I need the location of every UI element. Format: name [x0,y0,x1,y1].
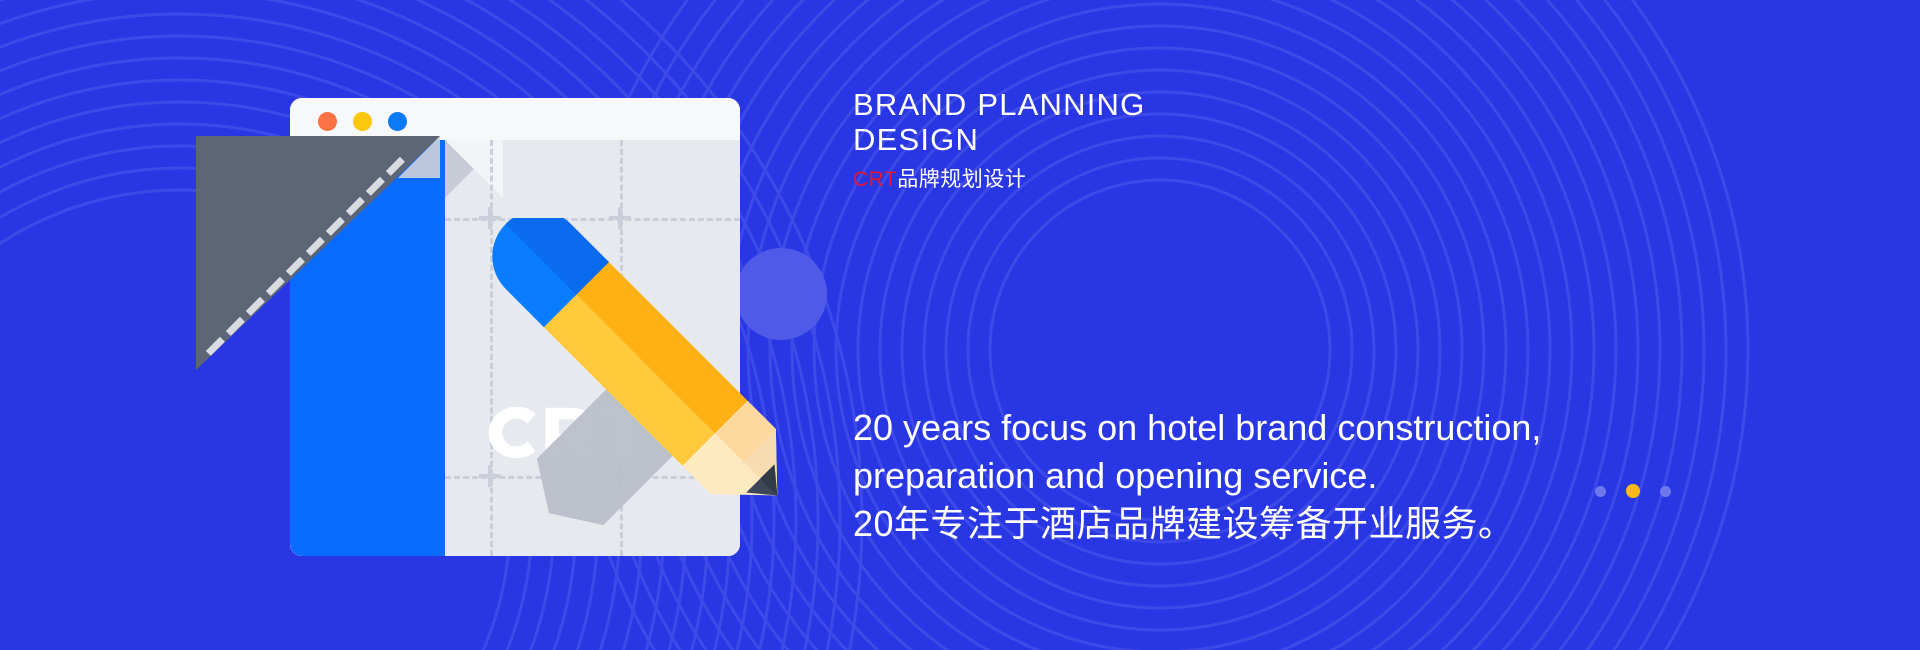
brand-subtitle-cn: 品牌规划设计 [897,168,1026,191]
tagline-english: 20 years focus on hotel brand constructi… [853,404,1653,499]
carousel-dot-3[interactable] [1660,486,1671,497]
hero-illustration [0,0,860,650]
triangle-ruler-icon [188,128,448,378]
brand-subtitle-mark: CRT [853,168,897,191]
hero-content: BRAND PLANNING DESIGN CRT品牌规划设计 20 years… [853,0,1920,650]
brand-title: BRAND PLANNING DESIGN [853,88,1283,157]
sheet-fold-icon [445,140,503,198]
carousel-dot-1[interactable] [1595,486,1606,497]
carousel-dot-2[interactable] [1626,484,1640,498]
pencil-icon [470,218,830,558]
brand-subtitle: CRT品牌规划设计 [853,167,1026,192]
carousel-pagination[interactable] [1595,484,1671,498]
tagline-chinese: 20年专注于酒店品牌建设筹备开业服务。 [853,500,1653,548]
hero-banner: BRAND PLANNING DESIGN CRT品牌规划设计 20 years… [0,0,1920,650]
